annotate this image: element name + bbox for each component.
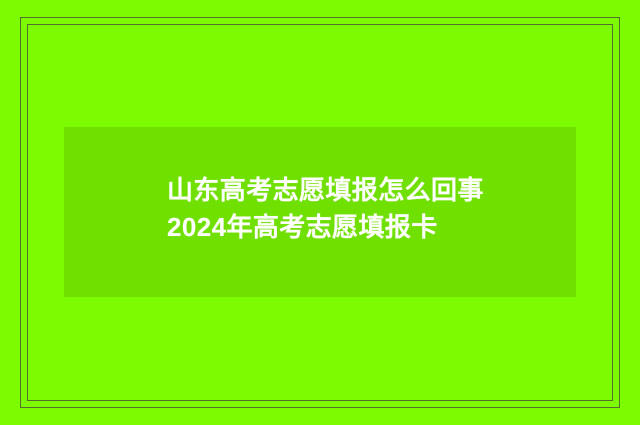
headline-line-1: 山东高考志愿填报怎么回事 (167, 172, 567, 209)
headline-line-2: 2024年高考志愿填报卡 (167, 209, 567, 246)
headline-text-block: 山东高考志愿填报怎么回事 2024年高考志愿填报卡 (167, 172, 567, 246)
text-banner-image: 山东高考志愿填报怎么回事 2024年高考志愿填报卡 (0, 0, 640, 425)
